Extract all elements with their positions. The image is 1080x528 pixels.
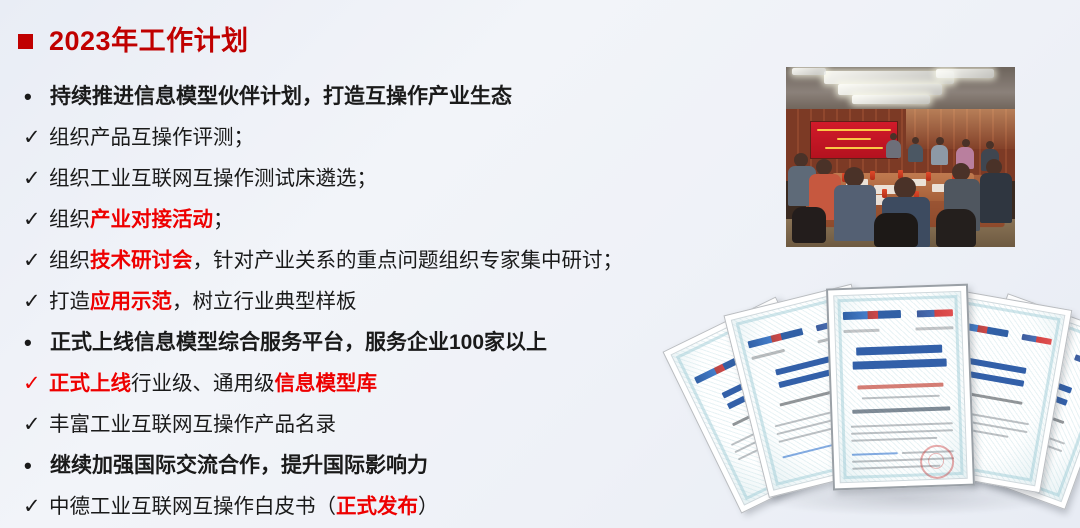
list-item: ✓中德工业互联网互操作白皮书（正式发布） [22, 486, 762, 527]
list-item-text: 持续推进信息模型伙伴计划，打造互操作产业生态 [50, 76, 512, 117]
text-segment: 中德工业互联网互操作白皮书（ [49, 495, 336, 518]
list-item: •持续推进信息模型伙伴计划，打造互操作产业生态 [22, 76, 762, 117]
list-item-text: 组织技术研讨会，针对产业关系的重点问题组织专家集中研讨； [49, 240, 623, 281]
check-bullet-icon: ✓ [22, 117, 49, 158]
list-item-text: 中德工业互联网互操作白皮书（正式发布） [49, 486, 439, 527]
chandelier-icon [824, 71, 954, 84]
highlighted-text: 应用示范 [90, 290, 172, 313]
text-segment: ，针对产业关系的重点问题组织专家集中研讨； [193, 249, 624, 272]
text-segment: 丰富工业互联网互操作产品名录 [49, 413, 336, 436]
check-bullet-icon: ✓ [22, 240, 49, 281]
list-item: ✓组织产品互操作评测； [22, 117, 762, 158]
text-segment: 打造 [49, 290, 90, 313]
photo-red-banner [810, 121, 898, 159]
text-segment: 组织产品互操作评测； [49, 126, 254, 149]
square-bullet-icon [18, 34, 33, 49]
text-segment: ，树立行业典型样板 [172, 290, 357, 313]
page-title-text: 2023年工作计划 [49, 28, 249, 55]
text-segment: 正式上线信息模型综合服务平台，服务企业100家以上 [50, 331, 547, 354]
text-segment: 组织 [49, 208, 90, 231]
check-bullet-icon: ✓ [22, 158, 49, 199]
list-item-text: 组织产业对接活动； [49, 199, 234, 240]
text-segment: 组织 [49, 249, 90, 272]
certificates-image [735, 286, 1080, 528]
content-list: •持续推进信息模型伙伴计划，打造互操作产业生态✓组织产品互操作评测；✓组织工业互… [22, 76, 762, 528]
dot-bullet-icon: • [22, 76, 50, 117]
list-item: ✓正式上线行业级、通用级信息模型库 [22, 363, 762, 404]
page-title: 2023年工作计划 [18, 28, 249, 55]
list-item: •正式上线信息模型综合服务平台，服务企业100家以上 [22, 322, 762, 363]
highlighted-text: 产业对接活动 [90, 208, 213, 231]
dot-bullet-icon: • [22, 322, 50, 363]
list-item-text: 打造应用示范，树立行业典型样板 [49, 281, 357, 322]
text-segment: 继续加强国际交流合作，提升国际影响力 [50, 454, 428, 477]
text-segment: 组织工业互联网互操作测试床遴选； [49, 167, 377, 190]
chandelier-icon [792, 68, 826, 75]
text-segment: ） [418, 495, 439, 518]
highlighted-text: 正式上线 [49, 372, 131, 395]
list-item-text: 丰富工业互联网互操作产品名录 [49, 404, 336, 445]
check-bullet-icon: ✓ [22, 486, 49, 527]
list-item-text: 组织工业互联网互操作测试床遴选； [49, 158, 377, 199]
list-item: ✓组织产业对接活动； [22, 199, 762, 240]
dot-bullet-icon: • [22, 445, 50, 486]
list-item: ✓组织技术研讨会，针对产业关系的重点问题组织专家集中研讨； [22, 240, 762, 281]
check-bullet-icon: ✓ [22, 404, 49, 445]
list-item-text: 组织产品互操作评测； [49, 117, 254, 158]
chandelier-icon [838, 84, 942, 95]
list-item: ✓组织工业互联网互操作测试床遴选； [22, 158, 762, 199]
certificate-front [826, 284, 975, 491]
text-segment: 持续推进信息模型伙伴计划，打造互操作产业生态 [50, 85, 512, 108]
chandelier-icon [852, 95, 930, 104]
list-item-text: 正式上线信息模型综合服务平台，服务企业100家以上 [50, 322, 547, 363]
list-item-text: 正式上线行业级、通用级信息模型库 [49, 363, 377, 404]
text-segment: 行业级、通用级 [131, 372, 275, 395]
list-item: ✓打造应用示范，树立行业典型样板 [22, 281, 762, 322]
check-bullet-icon: ✓ [22, 199, 49, 240]
list-item: ✓丰富工业互联网互操作产品名录 [22, 404, 762, 445]
meeting-photo [786, 67, 1015, 247]
highlighted-text: 正式发布 [336, 495, 418, 518]
chandelier-icon [936, 69, 994, 78]
cert-issuer-logo-icon [917, 309, 953, 317]
text-segment: ； [213, 208, 234, 231]
list-item-text: 继续加强国际交流合作，提升国际影响力 [50, 445, 428, 486]
list-item: •继续加强国际交流合作，提升国际影响力 [22, 445, 762, 486]
slide-canvas: 2023年工作计划 •持续推进信息模型伙伴计划，打造互操作产业生态✓组织产品互操… [0, 0, 1080, 528]
check-bullet-icon: ✓ [22, 363, 49, 404]
highlighted-text: 技术研讨会 [90, 249, 193, 272]
highlighted-text: 信息模型库 [275, 372, 378, 395]
check-bullet-icon: ✓ [22, 281, 49, 322]
photo-wall-glow [906, 109, 1015, 149]
